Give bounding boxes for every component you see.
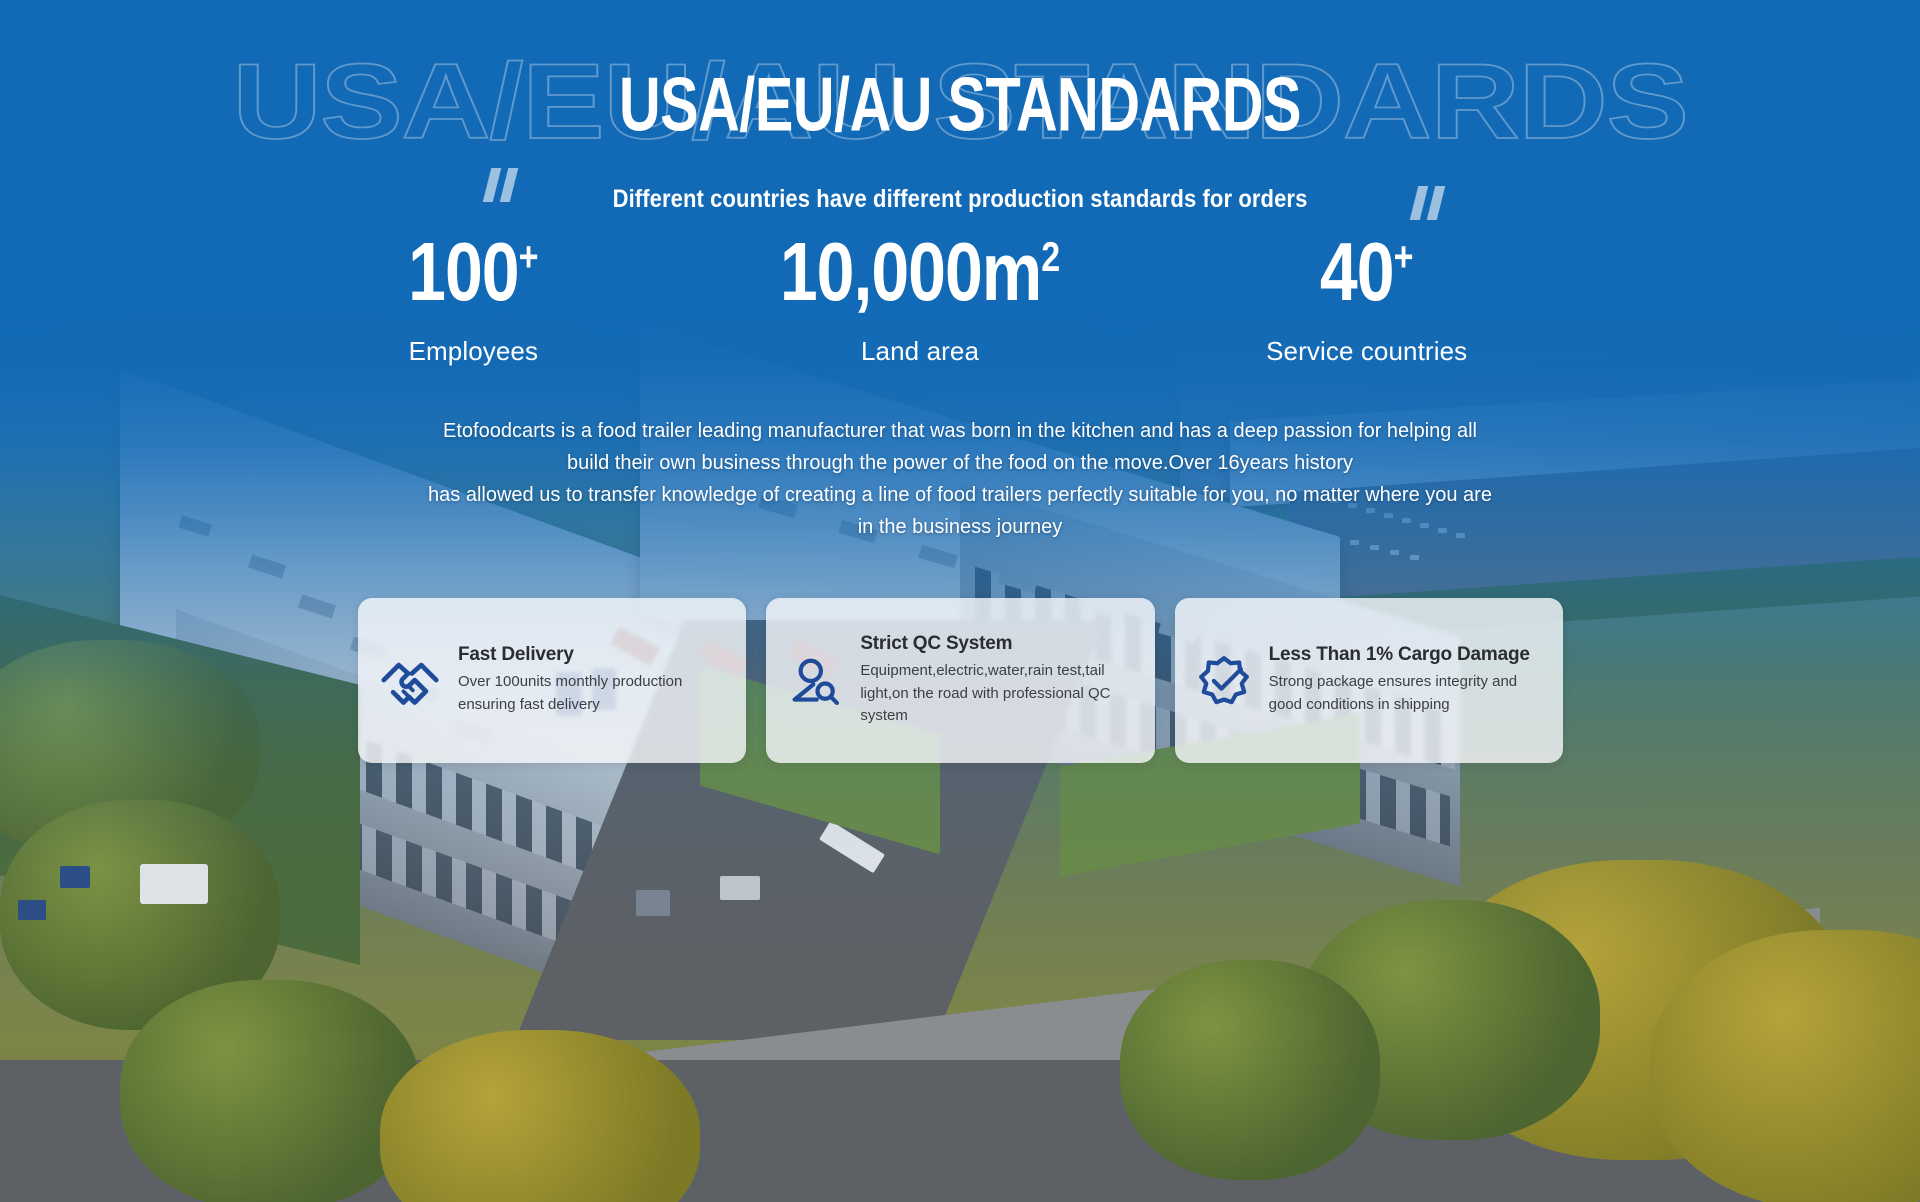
- feature-card-fast-delivery[interactable]: Fast Delivery Over 100units monthly prod…: [358, 598, 746, 763]
- feature-card-strict-qc[interactable]: Strict QC System Equipment,electric,wate…: [766, 598, 1154, 763]
- paragraph-line: has allowed us to transfer knowledge of …: [330, 479, 1590, 511]
- hero-subtitle-block: Different countries have different produ…: [0, 176, 1920, 222]
- stat-value: 100+: [408, 231, 538, 314]
- stat-label: Service countries: [1143, 336, 1590, 367]
- paragraph-line: Etofoodcarts is a food trailer leading m…: [330, 415, 1590, 447]
- page-title: USA/EU/AU STANDARDS: [67, 62, 1853, 149]
- card-title: Strict QC System: [860, 633, 1134, 656]
- stats-row: 100+ Employees 10,000m2 Land area 40+ Se…: [250, 238, 1590, 378]
- stat-suffix: 2: [1041, 235, 1060, 281]
- card-description: Over 100units monthly production ensurin…: [458, 671, 726, 717]
- person-search-icon: [786, 652, 844, 710]
- handshake-icon: [378, 652, 442, 710]
- stat-suffix: +: [519, 235, 539, 281]
- feature-card-cargo-damage[interactable]: Less Than 1% Cargo Damage Strong package…: [1175, 598, 1563, 763]
- hero-title-block: USA/EU/AU STANDARDS USA/EU/AU STANDARDS: [0, 52, 1920, 162]
- stat-land-area: 10,000m2 Land area: [697, 238, 1144, 367]
- card-title: Less Than 1% Cargo Damage: [1269, 644, 1543, 667]
- stat-service-countries: 40+ Service countries: [1143, 238, 1590, 367]
- about-paragraph: Etofoodcarts is a food trailer leading m…: [330, 415, 1590, 543]
- stat-suffix: +: [1394, 235, 1414, 281]
- stat-value: 10,000m2: [780, 231, 1060, 314]
- stat-label: Employees: [250, 336, 697, 367]
- verified-badge-icon: [1195, 652, 1253, 710]
- paragraph-line: build their own business through the pow…: [330, 447, 1590, 479]
- stat-value: 40+: [1320, 231, 1414, 314]
- card-description: Strong package ensures integrity and goo…: [1269, 671, 1543, 717]
- feature-cards: Fast Delivery Over 100units monthly prod…: [358, 598, 1563, 763]
- hero-subtitle: Different countries have different produ…: [613, 184, 1308, 214]
- paragraph-line: in the business journey: [330, 511, 1590, 543]
- card-description: Equipment,electric,water,rain test,tail …: [860, 660, 1134, 728]
- card-title: Fast Delivery: [458, 644, 726, 667]
- stat-label: Land area: [697, 336, 1144, 367]
- stat-employees: 100+ Employees: [250, 238, 697, 367]
